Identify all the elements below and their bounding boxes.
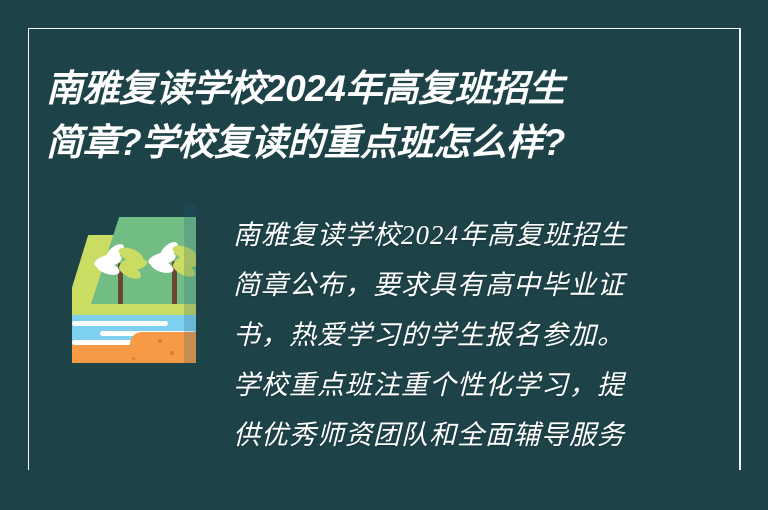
body-copy-line-1: 南雅复读学校2024年高复班招生 [233, 210, 663, 260]
illustration-wave [72, 321, 168, 326]
beach-scene-illustration [72, 205, 196, 363]
page-title-line-1: 南雅复读学校2024年高复班招生 [46, 62, 706, 116]
body-copy-line-3: 书，热爱学习的学生报名参加。 [233, 310, 663, 360]
body-copy-line-4: 学校重点班注重个性化学习，提 [233, 360, 663, 410]
illustration-sand-dot [132, 357, 135, 360]
frame-mask-top [0, 0, 768, 28]
illustration-right-shade [184, 205, 196, 363]
illustration-sand-dot [170, 351, 174, 355]
frame-mask-bottom [0, 470, 768, 510]
body-copy-line-5: 供优秀师资团队和全面辅导服务 [233, 410, 663, 460]
illustration-grass-strip [72, 304, 196, 315]
illustration-sand-dot [158, 339, 162, 343]
body-copy: 南雅复读学校2024年高复班招生 简章公布，要求具有高中毕业证 书，热爱学习的学… [233, 210, 663, 460]
frame-mask-right [742, 0, 768, 510]
frame-mask-left [0, 0, 28, 510]
page-title-line-2: 简章?学校复读的重点班怎么样? [46, 116, 706, 170]
page-title: 南雅复读学校2024年高复班招生 简章?学校复读的重点班怎么样? [46, 62, 706, 170]
body-copy-line-2: 简章公布，要求具有高中毕业证 [233, 260, 663, 310]
palm-tree-icon [94, 241, 148, 303]
